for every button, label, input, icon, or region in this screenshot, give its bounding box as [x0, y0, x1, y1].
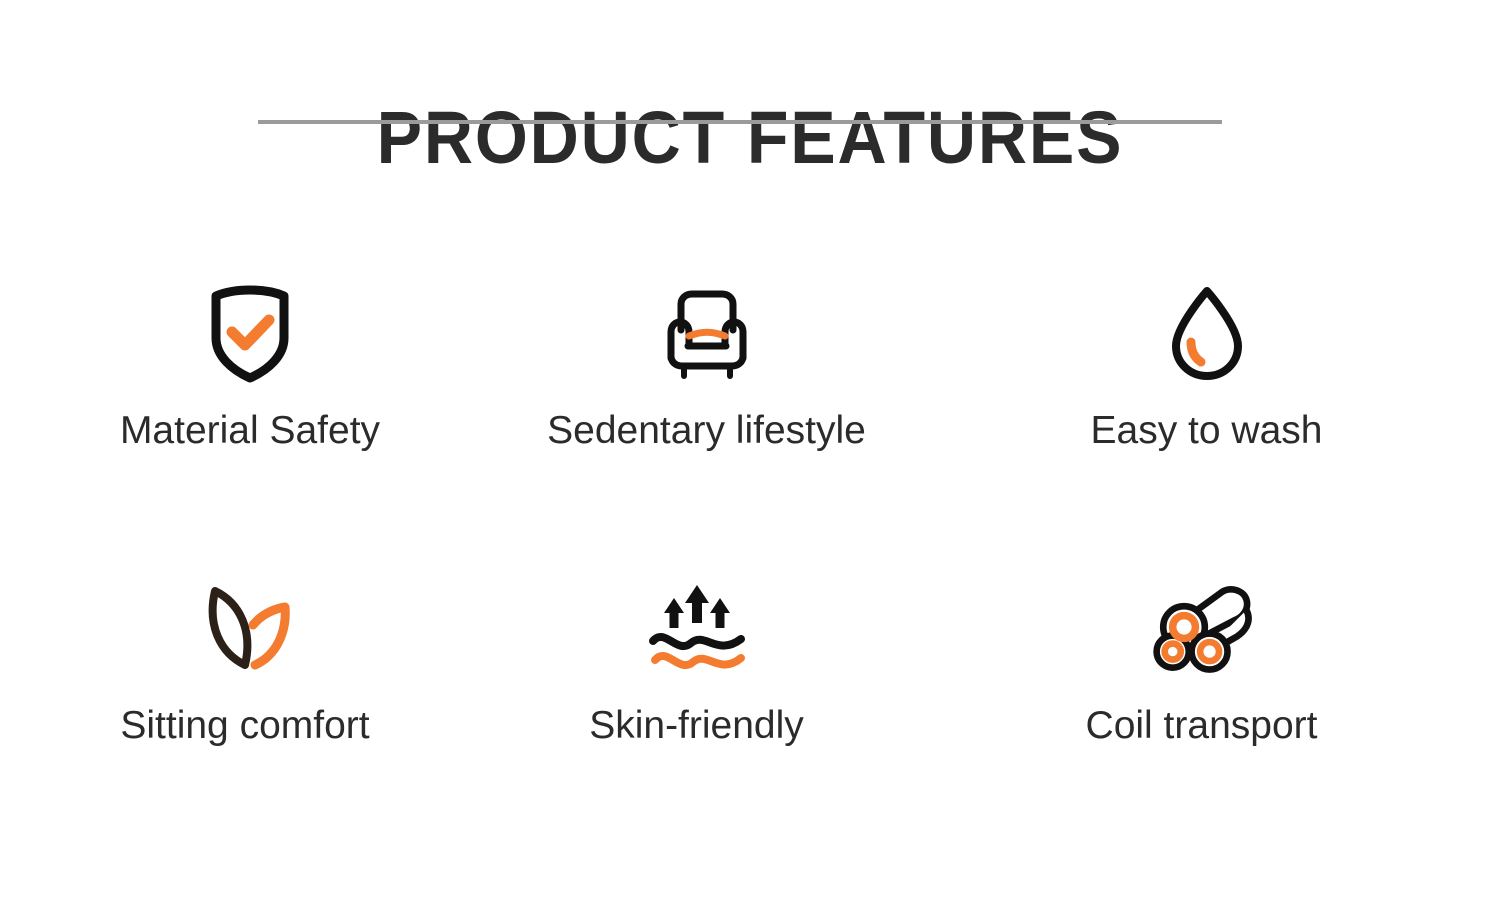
feature-label: Material Safety	[120, 408, 380, 454]
feature-label: Easy to wash	[1091, 408, 1323, 454]
header: PRODUCT FEATURES	[0, 96, 1500, 180]
feature-item-skin-friendly: Skin-friendly	[490, 577, 903, 872]
feature-item-easy-to-wash: Easy to wash	[913, 282, 1500, 577]
breathable-waves-arrows-icon	[645, 577, 749, 677]
feature-item-sitting-comfort: Sitting comfort	[0, 577, 490, 872]
stacked-coils-icon	[1150, 577, 1254, 677]
feature-label: Sedentary lifestyle	[547, 408, 866, 454]
feature-row: Material Safety Sedentary lifesty	[0, 282, 1500, 577]
shield-check-icon	[198, 282, 302, 386]
feature-label: Coil transport	[1086, 703, 1318, 749]
features-grid: Material Safety Sedentary lifesty	[0, 282, 1500, 872]
feature-item-coil-transport: Coil transport	[903, 577, 1500, 872]
feature-item-material-safety: Material Safety	[0, 282, 500, 577]
page-title: PRODUCT FEATURES	[60, 96, 1440, 180]
feature-row: Sitting comfort Skin-friendly	[0, 577, 1500, 872]
feature-label: Sitting comfort	[120, 703, 369, 749]
feature-label: Skin-friendly	[589, 703, 804, 749]
feature-item-sedentary-lifestyle: Sedentary lifestyle	[500, 282, 913, 577]
water-droplet-icon	[1155, 282, 1259, 386]
product-features-infographic: PRODUCT FEATURES Material Safety	[0, 0, 1500, 901]
armchair-icon	[655, 282, 759, 386]
title-divider	[258, 120, 1222, 124]
two-leaves-icon	[193, 577, 297, 677]
